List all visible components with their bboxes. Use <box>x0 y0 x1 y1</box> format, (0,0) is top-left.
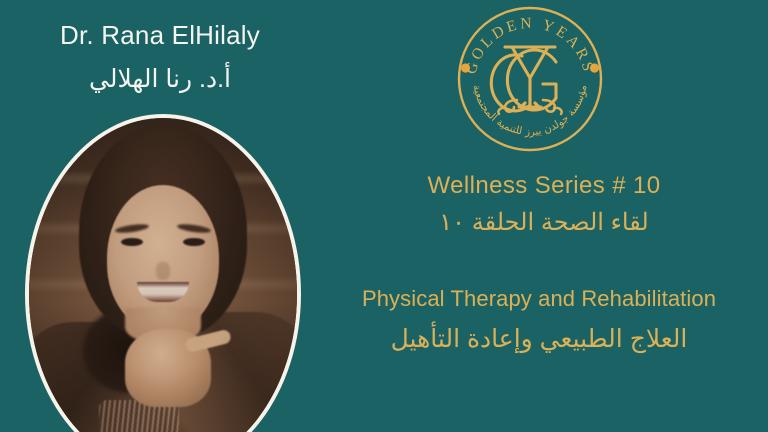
speaker-name-english: Dr. Rana ElHilaly <box>0 22 320 48</box>
topic-title-block: Physical Therapy and Rehabilitation العل… <box>310 286 768 356</box>
topic-title-english: Physical Therapy and Rehabilitation <box>310 286 768 311</box>
logo-arc-top-text: GOLDEN YEARS <box>463 15 598 76</box>
series-title-arabic: لقاء الصحة الحلقة ١٠ <box>320 208 768 238</box>
speaker-name-arabic: أ.د. رنا الهلالي <box>0 64 320 95</box>
presentation-slide: Dr. Rana ElHilaly أ.د. رنا الهلالي <box>0 0 768 432</box>
speaker-photo-frame <box>25 114 301 432</box>
speaker-block: Dr. Rana ElHilaly أ.د. رنا الهلالي <box>0 0 320 432</box>
golden-years-logo: GOLDEN YEARS مؤسسة جولدن ييرز للتنمية ال… <box>455 4 605 154</box>
photo-vignette <box>29 118 297 432</box>
series-title-english: Wellness Series # 10 <box>320 172 768 200</box>
speaker-portrait-photo <box>29 118 297 432</box>
topic-title-arabic: العلاج الطبيعي وإعادة التأهيل <box>310 323 768 356</box>
logo-monogram-gy <box>491 47 561 114</box>
series-title-block: Wellness Series # 10 لقاء الصحة الحلقة ١… <box>320 172 768 238</box>
